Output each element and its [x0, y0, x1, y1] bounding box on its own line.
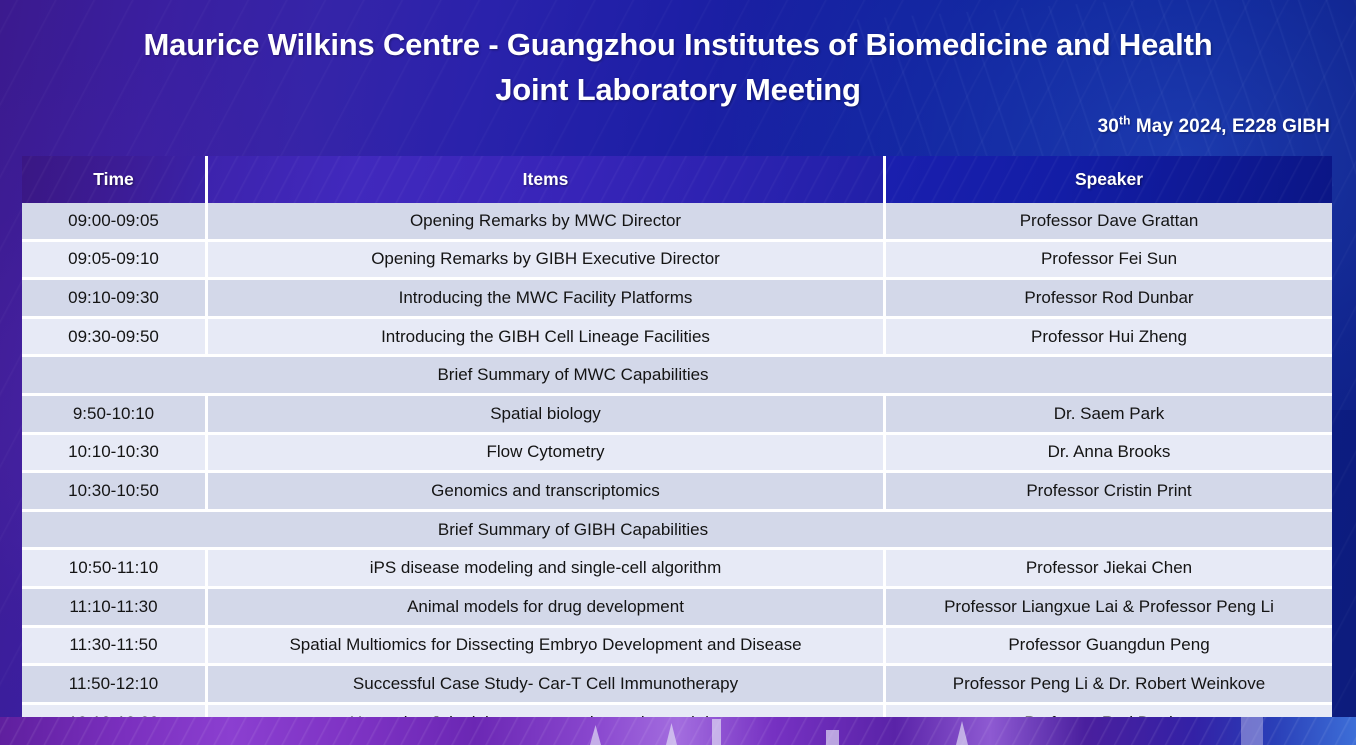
agenda-cell-speaker: Professor Jiekai Chen — [886, 550, 1332, 589]
agenda-cell-items: Flow Cytometry — [208, 435, 886, 474]
bottom-decorative-band — [0, 717, 1356, 745]
agenda-cell-speaker: Professor Cristin Print — [886, 473, 1332, 512]
slide-title-block: Maurice Wilkins Centre - Guangzhou Insti… — [0, 22, 1356, 112]
agenda-cell-items: Opening Remarks by GIBH Executive Direct… — [208, 242, 886, 281]
agenda-cell-time: 9:50-10:10 — [22, 396, 208, 435]
header-row: Time Items Speaker — [22, 156, 1332, 203]
agenda-cell-speaker: Professor Hui Zheng — [886, 319, 1332, 358]
column-header-speaker-label: Speaker — [1075, 169, 1143, 189]
agenda-row: 9:50-10:10Spatial biologyDr. Saem Park — [22, 396, 1332, 435]
agenda-cell-items: Spatial biology — [208, 396, 886, 435]
column-header-time: Time — [22, 156, 208, 203]
agenda-section-label-text: Brief Summary of MWC Capabilities — [437, 365, 708, 384]
agenda-cell-speaker: Professor Liangxue Lai & Professor Peng … — [886, 589, 1332, 628]
agenda-table-body: 09:00-09:05Opening Remarks by MWC Direct… — [22, 203, 1332, 745]
agenda-section-label-text: Brief Summary of GIBH Capabilities — [438, 520, 708, 539]
agenda-row: 09:10-09:30Introducing the MWC Facility … — [22, 280, 1332, 319]
agenda-table: Time Items Speaker 09:00-09:05Opening Re… — [22, 156, 1332, 745]
agenda-row: 10:50-11:10iPS disease modeling and sing… — [22, 550, 1332, 589]
band-shape-6 — [1241, 717, 1263, 745]
agenda-cell-speaker: Dr. Saem Park — [886, 396, 1332, 435]
column-header-speaker: Speaker — [886, 156, 1332, 203]
agenda-section-label: Brief Summary of MWC Capabilities — [22, 357, 1332, 396]
column-header-time-label: Time — [93, 169, 134, 189]
agenda-row: 11:10-11:30Animal models for drug develo… — [22, 589, 1332, 628]
agenda-cell-items: iPS disease modeling and single-cell alg… — [208, 550, 886, 589]
agenda-row: 11:30-11:50Spatial Multiomics for Dissec… — [22, 628, 1332, 667]
agenda-row: 09:00-09:05Opening Remarks by MWC Direct… — [22, 203, 1332, 242]
agenda-cell-items: Spatial Multiomics for Dissecting Embryo… — [208, 628, 886, 667]
agenda-section-row: Brief Summary of GIBH Capabilities — [22, 512, 1332, 551]
agenda-section-row: Brief Summary of MWC Capabilities — [22, 357, 1332, 396]
agenda-cell-speaker: Professor Peng Li & Dr. Robert Weinkove — [886, 666, 1332, 705]
agenda-cell-items: Introducing the GIBH Cell Lineage Facili… — [208, 319, 886, 358]
agenda-cell-items: Opening Remarks by MWC Director — [208, 203, 886, 242]
date-ordinal-suffix: th — [1119, 114, 1131, 128]
agenda-cell-time: 10:30-10:50 — [22, 473, 208, 512]
agenda-cell-time: 10:50-11:10 — [22, 550, 208, 589]
agenda-cell-speaker: Professor Guangdun Peng — [886, 628, 1332, 667]
agenda-cell-items: Animal models for drug development — [208, 589, 886, 628]
agenda-cell-items: Genomics and transcriptomics — [208, 473, 886, 512]
agenda-cell-speaker: Professor Fei Sun — [886, 242, 1332, 281]
agenda-cell-time: 09:00-09:05 — [22, 203, 208, 242]
date-day: 30 — [1098, 116, 1119, 137]
agenda-row: 11:50-12:10Successful Case Study- Car-T … — [22, 666, 1332, 705]
agenda-table-header: Time Items Speaker — [22, 156, 1332, 203]
agenda-cell-time: 11:30-11:50 — [22, 628, 208, 667]
agenda-row: 10:30-10:50Genomics and transcriptomicsP… — [22, 473, 1332, 512]
agenda-row: 09:05-09:10Opening Remarks by GIBH Execu… — [22, 242, 1332, 281]
agenda-cell-time: 11:50-12:10 — [22, 666, 208, 705]
agenda-cell-time: 09:10-09:30 — [22, 280, 208, 319]
column-header-items-label: Items — [523, 169, 569, 189]
band-hatch-texture — [0, 717, 1356, 745]
agenda-cell-time: 09:05-09:10 — [22, 242, 208, 281]
agenda-row: 09:30-09:50Introducing the GIBH Cell Lin… — [22, 319, 1332, 358]
slide-title-line-1: Maurice Wilkins Centre - Guangzhou Insti… — [40, 22, 1316, 67]
date-rest: May 2024, E228 GIBH — [1131, 116, 1331, 137]
agenda-cell-time: 10:10-10:30 — [22, 435, 208, 474]
band-shape-4 — [826, 730, 839, 745]
agenda-cell-items: Successful Case Study- Car-T Cell Immuno… — [208, 666, 886, 705]
agenda-cell-speaker: Professor Dave Grattan — [886, 203, 1332, 242]
slide-title-line-2: Joint Laboratory Meeting — [40, 67, 1316, 112]
agenda-cell-speaker: Professor Rod Dunbar — [886, 280, 1332, 319]
agenda-cell-speaker: Dr. Anna Brooks — [886, 435, 1332, 474]
agenda-cell-items: Introducing the MWC Facility Platforms — [208, 280, 886, 319]
agenda-row: 10:10-10:30Flow CytometryDr. Anna Brooks — [22, 435, 1332, 474]
agenda-cell-time: 11:10-11:30 — [22, 589, 208, 628]
band-shape-3 — [712, 719, 721, 745]
presentation-slide: Maurice Wilkins Centre - Guangzhou Insti… — [0, 0, 1356, 745]
slide-date-venue: 30th May 2024, E228 GIBH — [1098, 116, 1330, 138]
agenda-section-label: Brief Summary of GIBH Capabilities — [22, 512, 1332, 551]
column-header-items: Items — [208, 156, 886, 203]
agenda-cell-time: 09:30-09:50 — [22, 319, 208, 358]
